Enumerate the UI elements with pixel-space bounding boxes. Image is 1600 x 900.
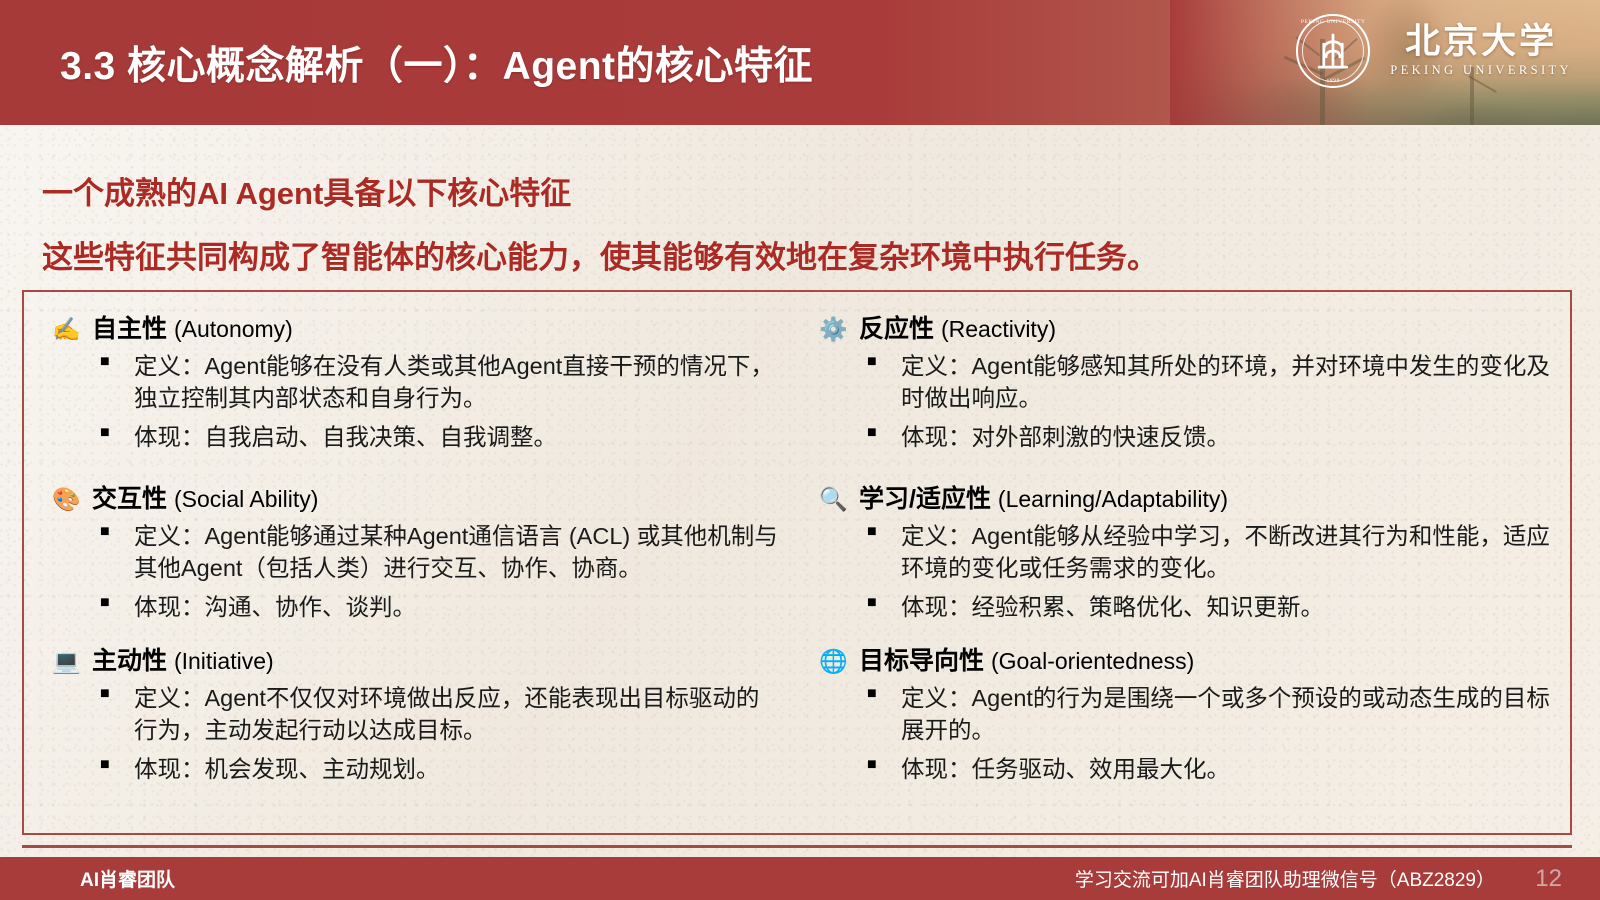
list-item: 定义：Agent能够在没有人类或其他Agent直接干预的情况下，独立控制其内部状…: [92, 351, 779, 415]
list-item: 体现：自我启动、自我决策、自我调整。: [92, 422, 779, 454]
feature-item-initiative: 💻 主动性 (Initiative) 定义：Agent不仅仅对环境做出反应，还能…: [52, 646, 779, 786]
feature-title-cn: 主动性: [92, 647, 167, 675]
feature-heading: 反应性 (Reactivity): [859, 314, 1552, 344]
feature-heading: 主动性 (Initiative): [92, 646, 779, 676]
gear-icon: ⚙️: [819, 314, 859, 454]
list-item: 定义：Agent能够感知其所处的环境，并对环境中发生的变化及时做出响应。: [859, 351, 1552, 415]
seal-top-text: PEKING UNIVERSITY: [1296, 19, 1370, 25]
palette-icon: 🎨: [52, 484, 92, 624]
pku-name-en: PEKING UNIVERSITY: [1390, 63, 1572, 78]
feature-heading: 学习/适应性 (Learning/Adaptability): [859, 484, 1552, 514]
list-item: 体现：沟通、协作、谈判。: [92, 592, 779, 624]
feature-title-en: (Social Ability): [174, 486, 318, 512]
feature-bullets: 定义：Agent能够在没有人类或其他Agent直接干预的情况下，独立控制其内部状…: [92, 351, 779, 454]
feature-title-cn: 交互性: [92, 485, 167, 513]
features-content-box: ✍️ 自主性 (Autonomy) 定义：Agent能够在没有人类或其他Agen…: [22, 290, 1572, 835]
features-right-column: ⚙️ 反应性 (Reactivity) 定义：Agent能够感知其所处的环境，并…: [797, 292, 1570, 833]
feature-title-cn: 自主性: [92, 315, 167, 343]
feature-item-autonomy: ✍️ 自主性 (Autonomy) 定义：Agent能够在没有人类或其他Agen…: [52, 314, 779, 454]
globe-icon: 🌐: [819, 646, 859, 786]
feature-heading: 目标导向性 (Goal-orientedness): [859, 646, 1552, 676]
pku-name-cn: 北京大学: [1405, 24, 1557, 61]
feature-item-reactivity: ⚙️ 反应性 (Reactivity) 定义：Agent能够感知其所处的环境，并…: [819, 314, 1552, 454]
footer-contact-label: 学习交流可加AI肖睿团队助理微信号（ABZ2829）: [1075, 857, 1495, 900]
feature-title-en: (Reactivity): [941, 316, 1056, 342]
list-item: 体现：对外部刺激的快速反馈。: [859, 422, 1552, 454]
feature-title-en: (Autonomy): [174, 316, 293, 342]
feature-title-en: (Initiative): [174, 648, 274, 674]
footer-divider: [22, 845, 1572, 848]
list-item: 体现：经验积累、策略优化、知识更新。: [859, 592, 1552, 624]
feature-bullets: 定义：Agent不仅仅对环境做出反应，还能表现出目标驱动的行为，主动发起行动以达…: [92, 683, 779, 786]
laptop-icon: 💻: [52, 646, 92, 786]
seal-bottom-text: 1898: [1296, 78, 1370, 84]
feature-bullets: 定义：Agent能够从经验中学习，不断改进其行为和性能，适应环境的变化或任务需求…: [859, 521, 1552, 624]
list-item: 定义：Agent能够从经验中学习，不断改进其行为和性能，适应环境的变化或任务需求…: [859, 521, 1552, 585]
feature-item-social-ability: 🎨 交互性 (Social Ability) 定义：Agent能够通过某种Age…: [52, 484, 779, 624]
lead-heading-primary: 一个成熟的AI Agent具备以下核心特征: [42, 168, 571, 213]
feature-item-goal-orientedness: 🌐 目标导向性 (Goal-orientedness) 定义：Agent的行为是…: [819, 646, 1552, 786]
footer-team-label: AI肖睿团队: [80, 857, 175, 900]
feature-title-cn: 学习/适应性: [859, 485, 991, 513]
pku-seal-icon: PEKING UNIVERSITY 1898: [1296, 14, 1370, 88]
features-left-column: ✍️ 自主性 (Autonomy) 定义：Agent能够在没有人类或其他Agen…: [24, 292, 797, 833]
lead-heading-secondary: 这些特征共同构成了智能体的核心能力，使其能够有效地在复杂环境中执行任务。: [42, 232, 1158, 277]
list-item: 定义：Agent能够通过某种Agent通信语言 (ACL) 或其他机制与其他Ag…: [92, 521, 779, 585]
feature-title-en: (Learning/Adaptability): [998, 486, 1228, 512]
writing-hand-icon: ✍️: [52, 314, 92, 454]
feature-heading: 交互性 (Social Ability): [92, 484, 779, 514]
magnifier-icon: 🔍: [819, 484, 859, 624]
list-item: 定义：Agent的行为是围绕一个或多个预设的或动态生成的目标展开的。: [859, 683, 1552, 747]
slide-header-bar: 3.3 核心概念解析（一）：Agent的核心特征 PEKING UNIVERSI…: [0, 0, 1600, 125]
feature-heading: 自主性 (Autonomy): [92, 314, 779, 344]
feature-title-cn: 目标导向性: [859, 647, 984, 675]
feature-bullets: 定义：Agent的行为是围绕一个或多个预设的或动态生成的目标展开的。 体现：任务…: [859, 683, 1552, 786]
list-item: 体现：任务驱动、效用最大化。: [859, 754, 1552, 786]
pku-logo: PEKING UNIVERSITY 1898: [1296, 14, 1572, 88]
list-item: 定义：Agent不仅仅对环境做出反应，还能表现出目标驱动的行为，主动发起行动以达…: [92, 683, 779, 747]
slide-title: 3.3 核心概念解析（一）：Agent的核心特征: [60, 0, 813, 125]
page-number: 12: [1535, 857, 1562, 900]
feature-bullets: 定义：Agent能够通过某种Agent通信语言 (ACL) 或其他机制与其他Ag…: [92, 521, 779, 624]
list-item: 体现：机会发现、主动规划。: [92, 754, 779, 786]
feature-title-en: (Goal-orientedness): [991, 648, 1194, 674]
feature-bullets: 定义：Agent能够感知其所处的环境，并对环境中发生的变化及时做出响应。 体现：…: [859, 351, 1552, 454]
feature-title-cn: 反应性: [859, 315, 934, 343]
feature-item-learning-adaptability: 🔍 学习/适应性 (Learning/Adaptability) 定义：Agen…: [819, 484, 1552, 624]
